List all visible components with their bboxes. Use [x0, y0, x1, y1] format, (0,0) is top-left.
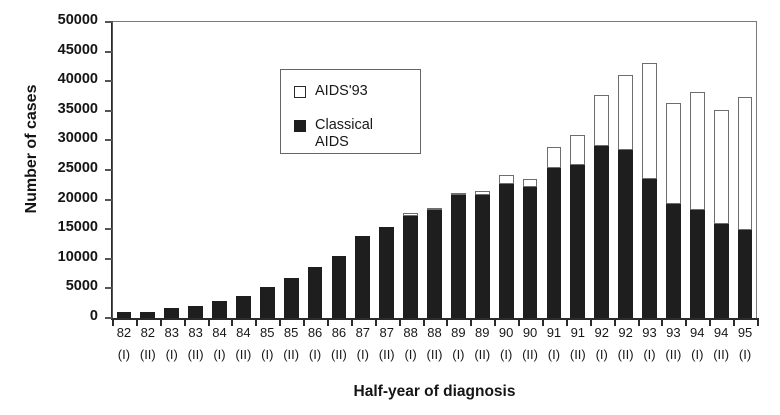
- y-axis-tick: [105, 139, 113, 141]
- y-axis-tick-label: 30000: [14, 130, 98, 146]
- bar-segment-classical-aids: [666, 204, 681, 318]
- y-axis-tick-label: 0: [14, 308, 98, 324]
- bar-group: [379, 22, 394, 318]
- bar-segment-classical-aids: [332, 256, 347, 318]
- bar-segment-classical-aids: [547, 168, 562, 318]
- bar-group: [236, 22, 251, 318]
- bar-segment-aids93: [523, 179, 538, 187]
- bar-segment-aids93: [666, 103, 681, 204]
- x-axis-tick-label: 86(I): [303, 322, 327, 366]
- x-axis-tick-label: 95(I): [733, 322, 757, 366]
- bar-group: [666, 22, 681, 318]
- x-axis-tick-label: 87(I): [351, 322, 375, 366]
- y-axis-tick: [105, 51, 113, 53]
- bar-segment-aids93: [594, 95, 609, 146]
- x-axis-tick-label: 82(I): [112, 322, 136, 366]
- bar-group: [642, 22, 657, 318]
- bar-segment-classical-aids: [690, 210, 705, 318]
- bar-group: [547, 22, 562, 318]
- bar-group: [499, 22, 514, 318]
- bar-segment-classical-aids: [451, 195, 466, 318]
- bar-segment-classical-aids: [284, 278, 299, 318]
- bar-group: [164, 22, 179, 318]
- bar-segment-classical-aids: [427, 210, 442, 318]
- plot-frame-right: [756, 21, 757, 319]
- legend-swatch-filled-square-icon: [294, 120, 306, 132]
- x-axis-tick-label: 93(II): [661, 322, 685, 366]
- x-axis-tick-label: 86(II): [327, 322, 351, 366]
- bar-segment-classical-aids: [308, 267, 323, 319]
- bar-segment-classical-aids: [379, 227, 394, 318]
- y-axis-tick-label: 25000: [14, 160, 98, 176]
- x-axis-tick-label: 89(I): [446, 322, 470, 366]
- x-axis-tick-label: 90(I): [494, 322, 518, 366]
- x-axis-tick-label: 89(II): [470, 322, 494, 366]
- x-axis-tick-label: 94(II): [709, 322, 733, 366]
- bar-segment-classical-aids: [570, 165, 585, 318]
- bar-group: [188, 22, 203, 318]
- y-axis-tick-labels: 5000045000400003500030000250002000015000…: [14, 22, 98, 318]
- bar-segment-aids93: [738, 97, 753, 230]
- bar-segment-classical-aids: [355, 236, 370, 318]
- bar-segment-aids93: [690, 92, 705, 210]
- bar-group: [451, 22, 466, 318]
- x-axis-tick-label: 90(II): [518, 322, 542, 366]
- y-axis-tick: [105, 258, 113, 260]
- bar-group: [403, 22, 418, 318]
- chart-legend: AIDS'93 Classical AIDS: [280, 69, 421, 154]
- bar-group: [332, 22, 347, 318]
- x-axis-tick-label: 83(II): [184, 322, 208, 366]
- x-axis-tick-label: 92(II): [614, 322, 638, 366]
- x-axis-tick-label: 93(I): [638, 322, 662, 366]
- legend-label-aids93: AIDS'93: [315, 83, 368, 100]
- bar-group: [690, 22, 705, 318]
- bar-segment-classical-aids: [618, 150, 633, 318]
- x-axis-tick-label: 88(I): [399, 322, 423, 366]
- bar-segment-aids93: [547, 147, 562, 168]
- y-axis-tick: [105, 287, 113, 289]
- x-axis-tick-label: 82(II): [136, 322, 160, 366]
- bar-group: [570, 22, 585, 318]
- bar-group: [475, 22, 490, 318]
- y-axis-tick-label: 5000: [14, 278, 98, 294]
- x-axis-tick-label: 91(I): [542, 322, 566, 366]
- x-axis-title: Half-year of diagnosis: [112, 383, 757, 401]
- y-axis-tick-label: 40000: [14, 71, 98, 87]
- x-axis-tick-label: 84(II): [231, 322, 255, 366]
- y-axis-tick: [105, 21, 113, 23]
- bar-segment-classical-aids: [403, 216, 418, 318]
- bar-group: [738, 22, 753, 318]
- bar-group: [260, 22, 275, 318]
- bar-group: [284, 22, 299, 318]
- bar-segment-classical-aids: [738, 230, 753, 318]
- bar-group: [594, 22, 609, 318]
- bar-segment-classical-aids: [594, 146, 609, 318]
- bar-segment-classical-aids: [188, 306, 203, 318]
- legend-label-classical-aids: Classical AIDS: [315, 117, 373, 151]
- bar-segment-aids93: [618, 75, 633, 150]
- x-axis-tick-label: 85(I): [255, 322, 279, 366]
- y-axis-tick-label: 10000: [14, 249, 98, 265]
- bar-segment-aids93: [499, 175, 514, 184]
- x-axis-tick: [757, 318, 759, 326]
- legend-item-classical-aids: Classical AIDS: [294, 117, 373, 151]
- bar-group: [355, 22, 370, 318]
- y-axis-tick-label: 50000: [14, 12, 98, 28]
- y-axis-tick: [105, 169, 113, 171]
- x-axis-tick-label: 84(I): [208, 322, 232, 366]
- bar-segment-classical-aids: [523, 187, 538, 318]
- y-axis-tick-label: 15000: [14, 219, 98, 235]
- y-axis-tick-label: 35000: [14, 101, 98, 117]
- bar-group: [427, 22, 442, 318]
- y-axis-tick: [105, 80, 113, 82]
- bar-segment-classical-aids: [236, 296, 251, 318]
- x-axis-tick-label: 91(II): [566, 322, 590, 366]
- bar-segment-classical-aids: [117, 312, 132, 318]
- x-axis-tick-labels: 82(I)82(II)83(I)83(II)84(I)84(II)85(I)85…: [112, 322, 757, 370]
- y-axis-tick-label: 20000: [14, 190, 98, 206]
- bar-group: [523, 22, 538, 318]
- bar-chart-figure: Number of cases 500004500040000350003000…: [0, 0, 780, 415]
- y-axis-tick-label: 45000: [14, 42, 98, 58]
- bar-segment-classical-aids: [642, 179, 657, 318]
- bar-group: [714, 22, 729, 318]
- x-axis-tick-label: 85(II): [279, 322, 303, 366]
- bar-segment-classical-aids: [714, 224, 729, 318]
- x-axis-tick-label: 94(I): [685, 322, 709, 366]
- x-axis-tick-label: 87(II): [375, 322, 399, 366]
- y-axis-tick: [105, 110, 113, 112]
- bar-segment-classical-aids: [140, 312, 155, 319]
- bar-segment-aids93: [570, 135, 585, 165]
- bar-group: [618, 22, 633, 318]
- bar-segment-aids93: [642, 63, 657, 179]
- bar-group: [212, 22, 227, 318]
- legend-swatch-open-square-icon: [294, 86, 306, 98]
- y-axis-tick: [105, 199, 113, 201]
- legend-item-aids93: AIDS'93: [294, 83, 368, 100]
- x-axis-tick-label: 92(I): [590, 322, 614, 366]
- x-axis-tick-label: 88(II): [423, 322, 447, 366]
- bar-segment-classical-aids: [475, 195, 490, 318]
- y-axis-tick: [105, 228, 113, 230]
- bar-group: [140, 22, 155, 318]
- bar-group: [117, 22, 132, 318]
- bar-segment-classical-aids: [164, 308, 179, 318]
- bar-segment-classical-aids: [499, 184, 514, 318]
- bar-segment-classical-aids: [260, 287, 275, 318]
- bar-group: [308, 22, 323, 318]
- bar-segment-aids93: [714, 110, 729, 224]
- bar-segment-classical-aids: [212, 301, 227, 318]
- x-axis-tick-label: 83(I): [160, 322, 184, 366]
- plot-area: AIDS'93 Classical AIDS: [112, 22, 757, 318]
